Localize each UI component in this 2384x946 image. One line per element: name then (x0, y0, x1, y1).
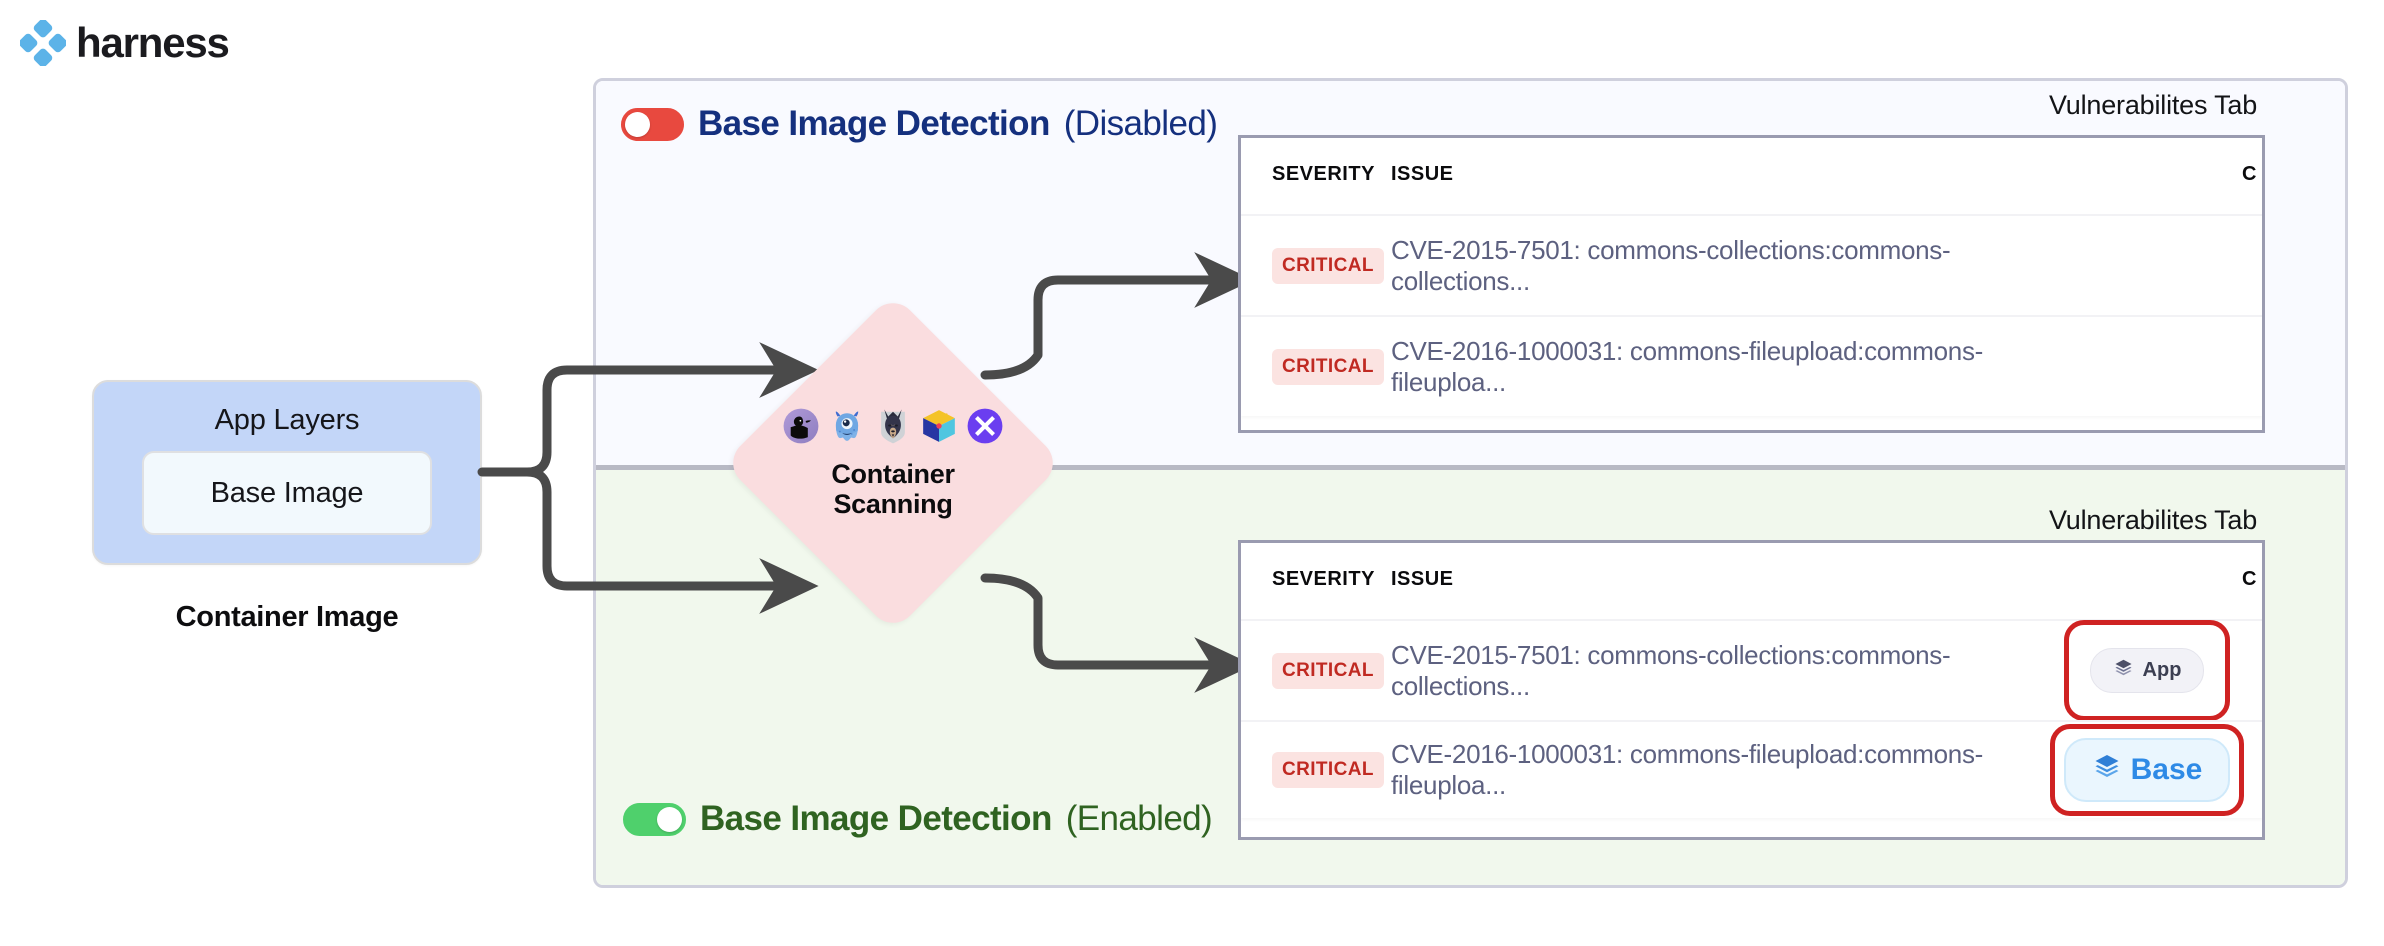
issue-cell: CVE-2016-1000031: commons-fileupload:com… (1391, 739, 2032, 801)
toggle-knob (625, 112, 650, 137)
toggle-state-enabled: (Enabled) (1066, 799, 1212, 839)
toggle-state-disabled: (Disabled) (1064, 104, 1218, 144)
status-badge: CRITICAL (1272, 248, 1384, 284)
diagram-canvas: harness App Layers Base Image (0, 0, 2384, 946)
base-image-detection-toggle-disabled[interactable]: Base Image Detection (Disabled) (621, 104, 1217, 144)
container-image-node: App Layers Base Image Container Image (92, 380, 482, 634)
container-image-caption: Container Image (92, 601, 482, 634)
toggle-title-disabled: Base Image Detection (698, 104, 1050, 144)
vulnerabilities-tab-caption-enabled: Vulnerabilites Tab (2049, 505, 2257, 536)
snyk-icon (966, 407, 1004, 445)
container-scanning-label-line2: Scanning (831, 489, 954, 519)
column-header-issue: ISSUE (1391, 163, 2242, 186)
anchore-icon (920, 407, 958, 445)
column-header-clipped: C (2242, 163, 2262, 186)
severity-cell: CRITICAL (1241, 752, 1391, 788)
toggle-title-enabled: Base Image Detection (700, 799, 1052, 839)
harness-wordmark: harness (76, 22, 229, 64)
table-row[interactable]: CRITICAL CVE-2015-7501: commons-collecti… (1241, 619, 2262, 720)
column-header-issue: ISSUE (1391, 568, 2242, 591)
container-scanning-node: Container Scanning (723, 293, 1063, 633)
app-layer-chip-wrapper: App (2090, 648, 2205, 693)
diamond-content: Container Scanning (723, 293, 1063, 633)
highlight-outline-base (2050, 724, 2245, 816)
base-image-label: Base Image (211, 477, 364, 510)
app-layers-box: App Layers Base Image (92, 380, 482, 565)
vulnerabilities-table-disabled: SEVERITY ISSUE C CRITICAL CVE-2015-7501:… (1238, 135, 2265, 433)
issue-cell: CVE-2015-7501: commons-collections:commo… (1391, 235, 2032, 297)
sysdig-icon (828, 407, 866, 445)
table-row[interactable]: CRITICAL CVE-2015-7501: commons-collecti… (1241, 214, 2262, 315)
vulnerabilities-tab-caption-disabled: Vulnerabilites Tab (2049, 90, 2257, 121)
severity-cell: CRITICAL (1241, 349, 1391, 385)
status-badge: CRITICAL (1272, 653, 1384, 689)
column-header-severity: SEVERITY (1241, 163, 1391, 186)
toggle-knob (657, 807, 682, 832)
table-header-row: SEVERITY ISSUE C (1241, 543, 2262, 619)
layer-cell: Base (2032, 738, 2262, 802)
base-image-box: Base Image (142, 451, 432, 535)
prisma-cloud-icon (874, 407, 912, 445)
issue-cell: CVE-2016-1000031: commons-fileupload:com… (1391, 336, 2032, 398)
table-row[interactable]: CRITICAL CVE-2016-1000031: commons-fileu… (1241, 720, 2262, 818)
column-header-severity: SEVERITY (1241, 568, 1391, 591)
toggle-switch-off-icon[interactable] (621, 108, 684, 141)
issue-cell: CVE-2015-7501: commons-collections:commo… (1391, 640, 2032, 702)
table-header-row: SEVERITY ISSUE C (1241, 138, 2262, 214)
app-layers-label: App Layers (215, 404, 360, 437)
layer-cell: App (2032, 648, 2262, 693)
table-row[interactable]: CRITICAL CVE-2016-1000031: commons-fileu… (1241, 315, 2262, 416)
container-scanning-label-line1: Container (831, 459, 954, 489)
toggle-switch-on-icon[interactable] (623, 803, 686, 836)
status-badge: CRITICAL (1272, 752, 1384, 788)
black-duck-icon (782, 407, 820, 445)
status-badge: CRITICAL (1272, 349, 1384, 385)
vulnerabilities-table-enabled: SEVERITY ISSUE C CRITICAL CVE-2015-7501:… (1238, 540, 2265, 840)
column-header-clipped: C (2242, 568, 2262, 591)
scanner-icon-row (782, 407, 1004, 445)
base-image-detection-toggle-enabled[interactable]: Base Image Detection (Enabled) (623, 799, 1212, 839)
severity-cell: CRITICAL (1241, 653, 1391, 689)
highlight-outline-app (2064, 620, 2231, 721)
severity-cell: CRITICAL (1241, 248, 1391, 284)
base-layer-chip-wrapper: Base (2064, 738, 2231, 802)
harness-diamond-logo-icon (20, 20, 66, 66)
container-scanning-label: Container Scanning (831, 459, 954, 519)
harness-logo: harness (20, 20, 229, 66)
